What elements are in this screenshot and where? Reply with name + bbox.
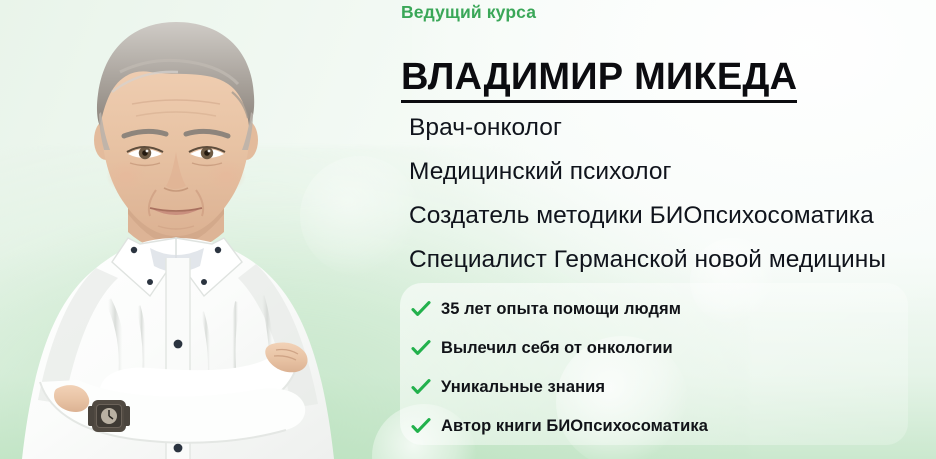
eyebrow-label: Ведущий курса — [401, 2, 536, 23]
descriptor-line: Врач-онколог — [409, 106, 933, 150]
portrait-illustration — [0, 0, 352, 459]
descriptor-line: Медицинский психолог — [409, 150, 933, 194]
list-item-label: Уникальные знания — [441, 378, 605, 397]
descriptor-list: Врач-онколог Медицинский психолог Создат… — [409, 106, 933, 282]
list-item: Уникальные знания — [411, 370, 911, 404]
list-item-label: Вылечил себя от онкологии — [441, 339, 673, 358]
descriptor-line: Создатель методики БИОпсихосоматика — [409, 194, 933, 238]
list-item: Вылечил себя от онкологии — [411, 331, 911, 365]
check-icon — [411, 377, 431, 397]
list-item-label: Автор книги БИОпсихосоматика — [441, 417, 708, 436]
list-item: 35 лет опыта помощи людям — [411, 292, 911, 326]
promo-banner: Ведущий курса ВЛАДИМИР МИКЕДА Врач-онкол… — [0, 0, 936, 459]
list-item: Автор книги БИОпсихосоматика — [411, 409, 911, 443]
check-icon — [411, 416, 431, 436]
checklist: 35 лет опыта помощи людям Вылечил себя о… — [411, 292, 911, 448]
descriptor-line: Специалист Германской новой медицины — [409, 238, 933, 282]
list-item-label: 35 лет опыта помощи людям — [441, 300, 681, 319]
page-title: ВЛАДИМИР МИКЕДА — [401, 57, 797, 103]
check-icon — [411, 299, 431, 319]
portrait-photo — [0, 0, 352, 459]
check-icon — [411, 338, 431, 358]
